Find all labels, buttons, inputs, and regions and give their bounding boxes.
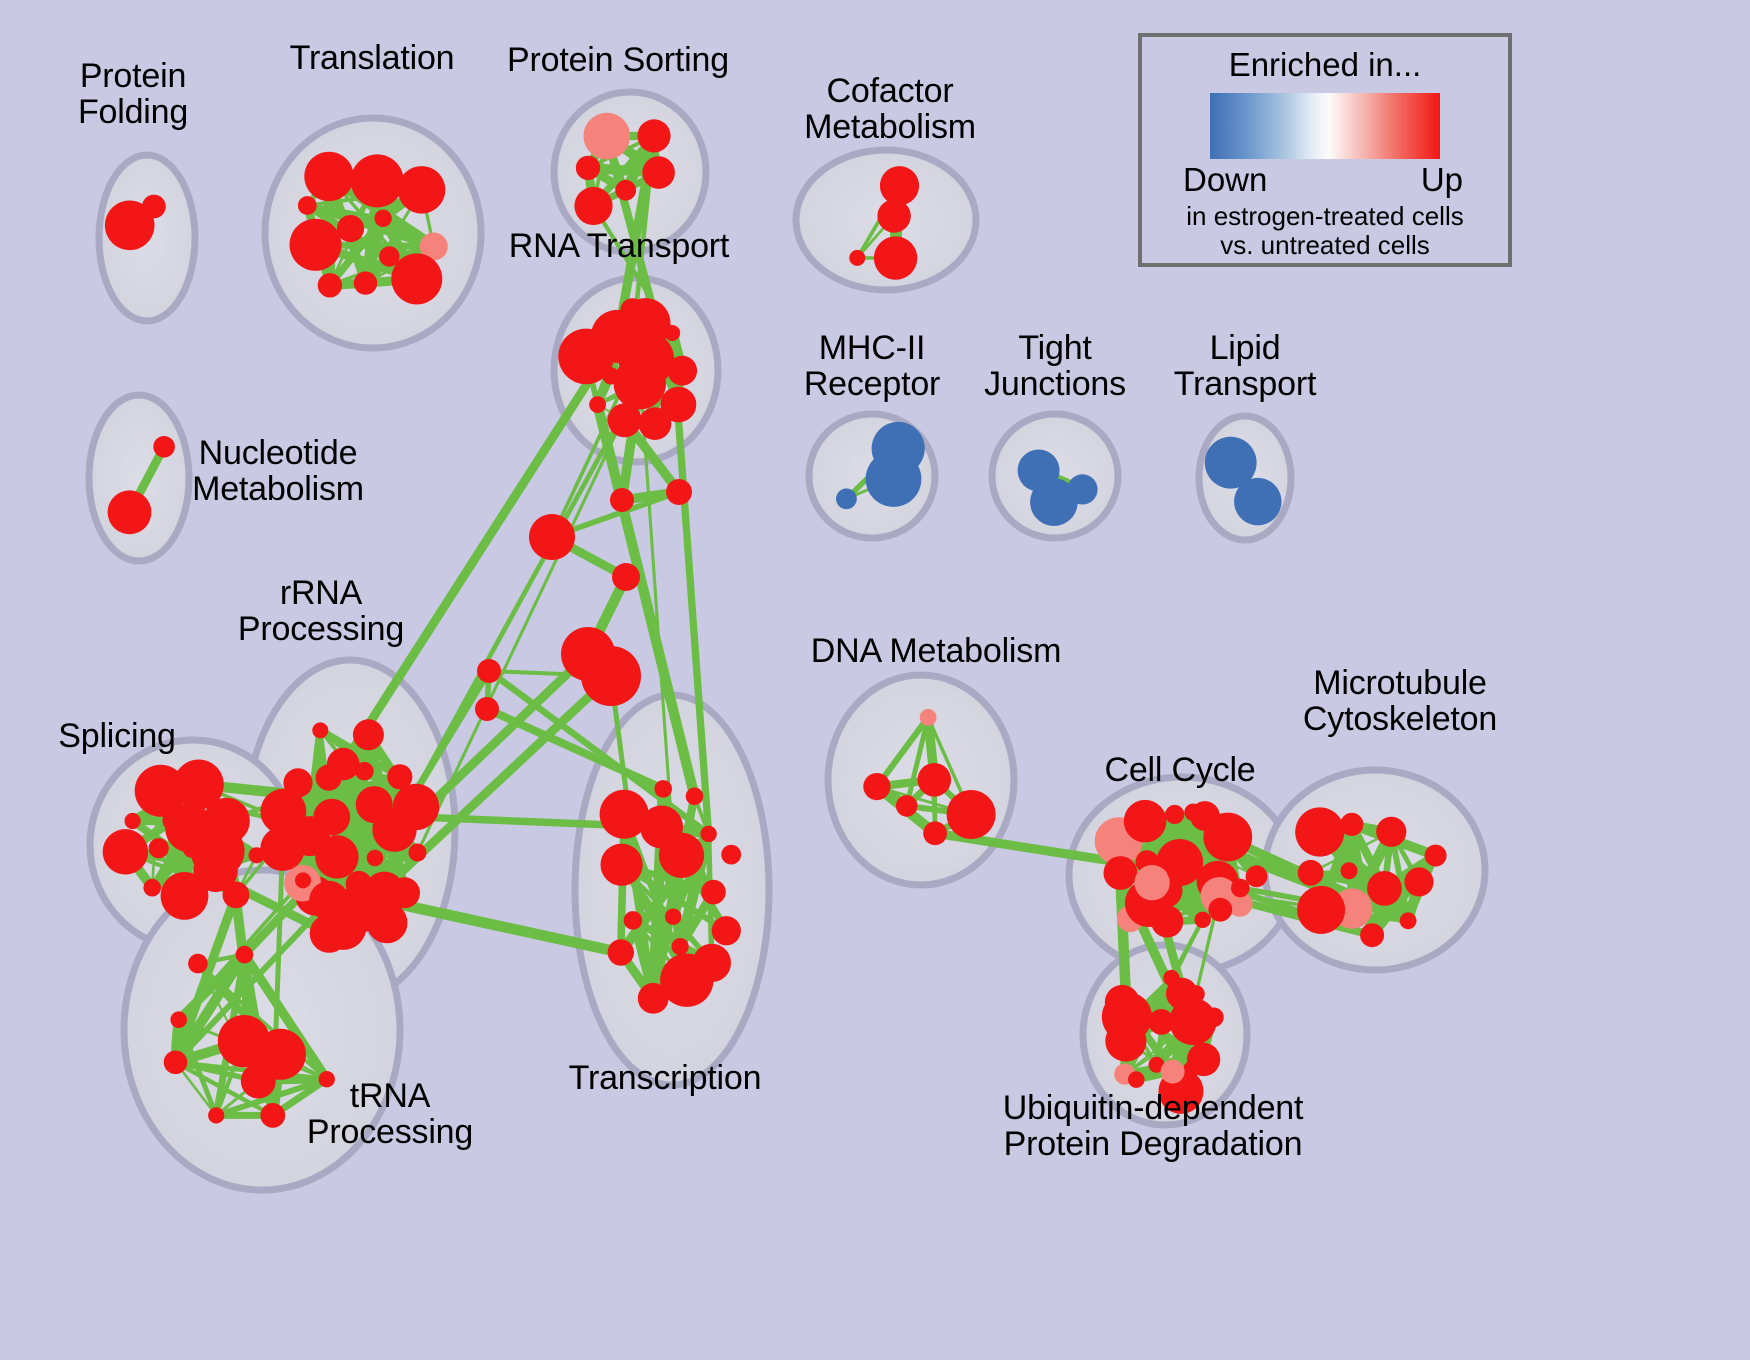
network-node[interactable] <box>477 659 501 683</box>
network-node[interactable] <box>1104 856 1138 890</box>
legend-endpoint-labels: Down Up <box>1175 161 1475 201</box>
cluster-label-trna-processing: tRNA Processing <box>307 1078 473 1150</box>
network-node[interactable] <box>610 488 634 512</box>
network-node[interactable] <box>640 806 683 849</box>
network-node[interactable] <box>700 826 716 842</box>
network-node[interactable] <box>836 488 857 509</box>
network-node[interactable] <box>667 356 697 386</box>
network-node[interactable] <box>1134 865 1169 900</box>
network-node[interactable] <box>1297 886 1345 934</box>
network-node[interactable] <box>1184 804 1201 821</box>
network-node[interactable] <box>639 407 672 440</box>
cluster-ellipse-nucleotide-metabolism <box>89 395 189 561</box>
cluster-label-translation: Translation <box>290 40 455 76</box>
legend-up-label: Up <box>1421 161 1463 199</box>
network-node[interactable] <box>558 329 614 385</box>
network-node[interactable] <box>393 784 439 830</box>
network-node[interactable] <box>312 722 328 738</box>
network-node[interactable] <box>608 939 634 965</box>
cluster-label-ubiquitin-degradation: Ubiquitin-dependent Protein Degradation <box>1003 1090 1304 1162</box>
legend-subtitle: in estrogen-treated cells vs. untreated … <box>1142 202 1508 260</box>
network-node[interactable] <box>665 909 681 925</box>
network-node[interactable] <box>920 709 937 726</box>
network-node[interactable] <box>1204 1008 1224 1028</box>
network-node[interactable] <box>103 829 148 874</box>
network-node[interactable] <box>353 719 384 750</box>
network-node[interactable] <box>170 1011 187 1028</box>
legend-title: Enriched in... <box>1142 46 1508 84</box>
network-node[interactable] <box>637 119 670 152</box>
network-node[interactable] <box>1067 474 1097 504</box>
network-node[interactable] <box>218 1015 270 1067</box>
cluster-label-microtubule-cytoskeleton: Microtubule Cytoskeleton <box>1303 665 1497 737</box>
network-node[interactable] <box>143 879 161 897</box>
cluster-label-transcription: Transcription <box>569 1060 762 1096</box>
network-node[interactable] <box>1376 817 1406 847</box>
network-node[interactable] <box>1231 879 1250 898</box>
cluster-label-splicing: Splicing <box>58 718 175 754</box>
network-node[interactable] <box>1183 1061 1199 1077</box>
legend-box: Enriched in... Down Up in estrogen-treat… <box>1138 33 1512 267</box>
network-node[interactable] <box>1404 867 1433 896</box>
network-node[interactable] <box>1295 807 1344 856</box>
network-node[interactable] <box>304 152 353 201</box>
network-node[interactable] <box>923 821 947 845</box>
cluster-label-protein-folding: Protein Folding <box>78 58 188 130</box>
network-node[interactable] <box>290 219 342 271</box>
network-node[interactable] <box>236 946 254 964</box>
network-node[interactable] <box>367 850 384 867</box>
network-node[interactable] <box>1161 1060 1185 1084</box>
network-node[interactable] <box>721 845 741 865</box>
network-node[interactable] <box>391 253 442 304</box>
network-node[interactable] <box>364 872 405 913</box>
cluster-label-cell-cycle: Cell Cycle <box>1104 752 1255 788</box>
enrichment-map-figure: Protein FoldingTranslationProtein Sortin… <box>0 0 1750 1360</box>
network-node[interactable] <box>351 154 404 207</box>
network-node[interactable] <box>1148 1009 1174 1035</box>
network-node[interactable] <box>872 422 925 475</box>
network-node[interactable] <box>947 790 996 839</box>
network-node[interactable] <box>379 246 399 266</box>
network-node[interactable] <box>849 250 865 266</box>
network-node[interactable] <box>1360 923 1384 947</box>
network-node[interactable] <box>1102 992 1152 1042</box>
network-node[interactable] <box>1128 1071 1145 1088</box>
network-node[interactable] <box>105 201 155 251</box>
network-node[interactable] <box>327 748 360 781</box>
network-node[interactable] <box>589 396 606 413</box>
network-node[interactable] <box>1367 871 1402 906</box>
network-node[interactable] <box>356 786 393 823</box>
cluster-label-cofactor-metabolism: Cofactor Metabolism <box>804 73 976 145</box>
network-node[interactable] <box>409 844 427 862</box>
cluster-label-dna-metabolism: DNA Metabolism <box>811 633 1061 669</box>
cluster-label-rrna-processing: rRNA Processing <box>238 575 404 647</box>
legend-down-label: Down <box>1183 161 1267 199</box>
network-node[interactable] <box>574 187 612 225</box>
network-node[interactable] <box>188 954 208 974</box>
network-node[interactable] <box>686 788 704 806</box>
network-node[interactable] <box>125 813 141 829</box>
network-node[interactable] <box>208 1107 224 1123</box>
network-node[interactable] <box>295 872 311 888</box>
network-node[interactable] <box>693 944 731 982</box>
network-node[interactable] <box>880 166 919 205</box>
legend-color-gradient-bar <box>1210 93 1440 159</box>
network-node[interactable] <box>615 180 636 201</box>
cluster-label-tight-junctions: Tight Junctions <box>984 330 1126 402</box>
network-node[interactable] <box>108 490 152 534</box>
network-node[interactable] <box>149 838 169 858</box>
network-node[interactable] <box>298 196 317 215</box>
network-node[interactable] <box>612 563 640 591</box>
network-node[interactable] <box>529 514 575 560</box>
network-node[interactable] <box>164 1051 188 1075</box>
network-node[interactable] <box>248 847 264 863</box>
network-node[interactable] <box>1166 978 1198 1010</box>
network-node[interactable] <box>896 795 918 817</box>
network-node[interactable] <box>642 156 675 189</box>
network-node[interactable] <box>1208 898 1232 922</box>
network-node[interactable] <box>666 479 692 505</box>
network-node[interactable] <box>1185 1022 1201 1038</box>
network-node[interactable] <box>624 911 643 930</box>
network-node[interactable] <box>672 938 689 955</box>
network-node[interactable] <box>398 166 445 213</box>
network-node[interactable] <box>354 271 377 294</box>
network-node[interactable] <box>638 983 669 1014</box>
network-node[interactable] <box>601 844 643 886</box>
network-node[interactable] <box>374 210 391 227</box>
network-node[interactable] <box>191 824 245 878</box>
network-node[interactable] <box>1195 912 1211 928</box>
network-node[interactable] <box>584 113 631 160</box>
cluster-label-protein-sorting: Protein Sorting <box>507 42 729 78</box>
network-node[interactable] <box>260 1103 285 1128</box>
network-node[interactable] <box>701 880 726 905</box>
network-node[interactable] <box>1165 805 1184 824</box>
network-node[interactable] <box>1167 860 1190 883</box>
network-node[interactable] <box>260 827 304 871</box>
network-node[interactable] <box>654 780 672 798</box>
cluster-label-mhc-ii-receptor: MHC-II Receptor <box>804 330 940 402</box>
cluster-label-rna-transport: RNA Transport <box>509 228 729 264</box>
network-node[interactable] <box>318 273 342 297</box>
network-node[interactable] <box>337 215 364 242</box>
network-node[interactable] <box>622 363 659 400</box>
network-node[interactable] <box>874 236 917 279</box>
network-node[interactable] <box>1246 865 1268 887</box>
network-node[interactable] <box>1146 814 1165 833</box>
network-node[interactable] <box>581 646 641 706</box>
network-node[interactable] <box>620 298 670 348</box>
cluster-label-lipid-transport: Lipid Transport <box>1174 330 1316 402</box>
cluster-label-nucleotide-metabolism: Nucleotide Metabolism <box>192 435 364 507</box>
network-node[interactable] <box>153 436 175 458</box>
network-node[interactable] <box>149 782 168 801</box>
network-node[interactable] <box>712 916 741 945</box>
network-node[interactable] <box>337 892 362 917</box>
network-node[interactable] <box>1234 478 1281 525</box>
network-node[interactable] <box>475 697 499 721</box>
network-node[interactable] <box>918 763 952 797</box>
network-node[interactable] <box>576 156 600 180</box>
network-node[interactable] <box>1341 862 1358 879</box>
network-node[interactable] <box>863 773 890 800</box>
network-node[interactable] <box>1400 912 1417 929</box>
network-node[interactable] <box>1425 845 1447 867</box>
network-node[interactable] <box>1298 860 1324 886</box>
